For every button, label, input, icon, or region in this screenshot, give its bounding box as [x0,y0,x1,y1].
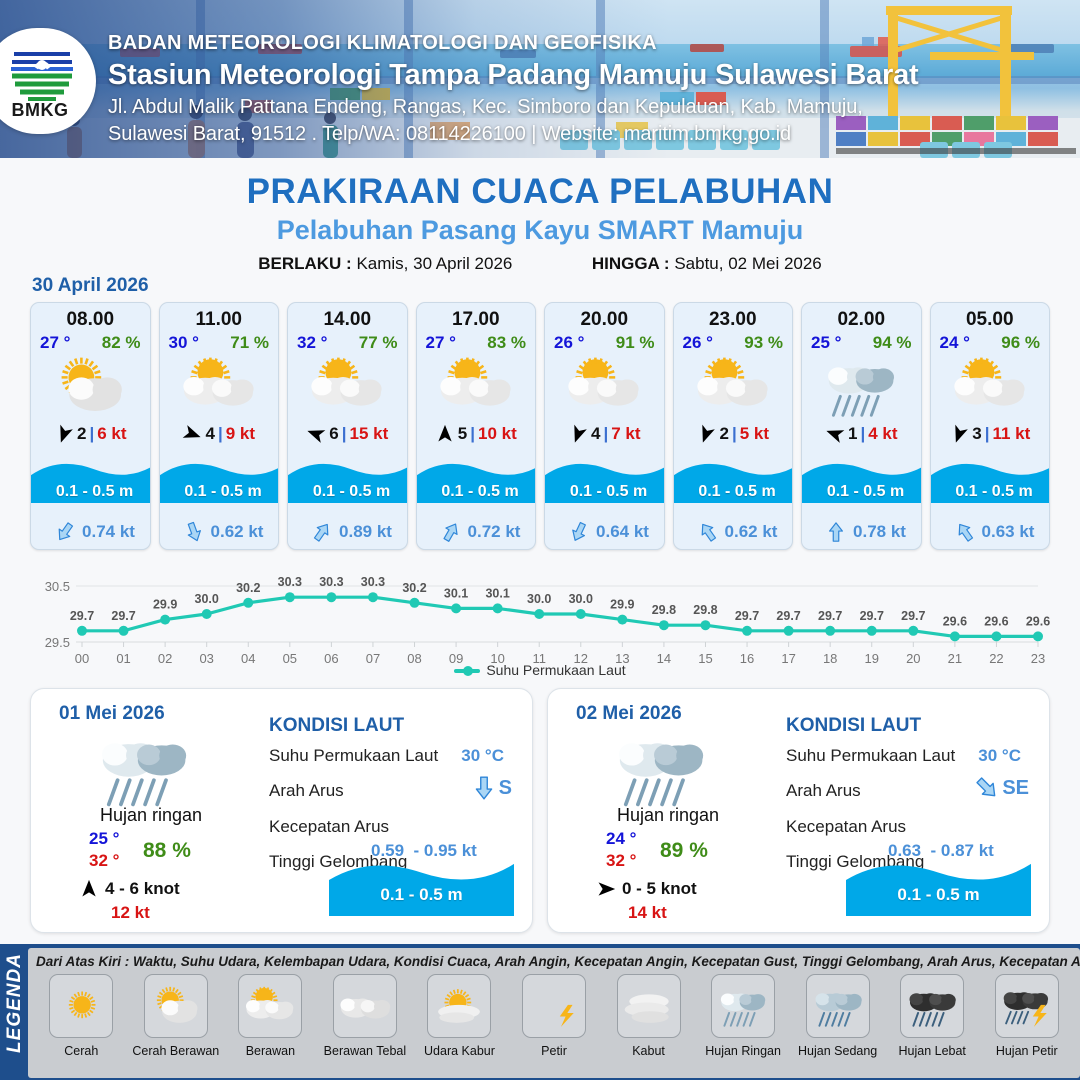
daily-weather-icon [89,727,199,807]
hourly-card: 11.00 30 ° 71 % 4 | 9 kt 0.1 - 0.5 m 0.6… [159,302,280,550]
address-line-1: Jl. Abdul Malik Pattana Endeng, Rangas, … [108,94,919,121]
wind-direction-arrow [435,424,455,444]
bmkg-logo-icon [6,38,78,104]
sst-label: Suhu Permukaan Laut [786,746,955,766]
hourly-card: 20.00 26 ° 91 % 4 | 7 kt 0.1 - 0.5 m 0.6… [544,302,665,550]
wind-direction-arrow [51,421,77,447]
current-direction-arrow [825,521,847,543]
card-current-row: 0.62 kt [160,521,280,543]
page-subtitle: Pelabuhan Pasang Kayu SMART Mamuju [0,215,1080,246]
daily-temp-min: 24 ° [606,829,636,849]
svg-text:29.6: 29.6 [1026,614,1050,628]
legend-icon-cerah-berawan [144,974,208,1038]
legend-item: Berawan [223,974,318,1074]
chart-legend-label: Suhu Permukaan Laut [486,662,625,678]
card-time: 20.00 [545,309,664,331]
card-wind-scale: 1 [848,424,857,444]
card-humidity: 83 % [487,333,526,353]
card-current-speed: 0.62 kt [211,522,264,542]
wind-direction-arrow [303,421,329,447]
card-temperature: 24 ° [940,333,970,353]
legend-item: Cerah Berawan [129,974,224,1074]
svg-text:30.3: 30.3 [319,575,343,589]
card-humidity: 71 % [230,333,269,353]
card-current-row: 0.63 kt [931,521,1051,543]
daily-wave-value: 0.1 - 0.5 m [329,885,514,905]
card-temperature: 30 ° [169,333,199,353]
daily-panel: 02 Mei 2026 Hujan ringan 24 ° 32 ° 89 % … [547,688,1050,933]
card-gust: 6 kt [97,424,126,444]
card-temperature: 26 ° [554,333,584,353]
card-temperature: 27 ° [40,333,70,353]
card-current-row: 0.64 kt [545,521,665,543]
daily-wind-row: 4 - 6 knot [79,879,180,899]
wind-direction-arrow [694,421,720,447]
svg-text:30.1: 30.1 [485,586,509,600]
daily-gust: 12 kt [111,903,150,923]
card-current-row: 0.74 kt [31,521,151,543]
page-title: PRAKIRAAN CUACA PELABUHAN [0,172,1080,212]
current-direction-value: S [471,775,512,801]
card-separator: | [342,424,347,444]
card-wind-scale: 5 [458,424,467,444]
current-direction-arrow [436,517,466,547]
card-separator: | [603,424,608,444]
card-current-row: 0.62 kt [674,521,794,543]
legend-footer: Dari Atas Kiri : Waktu, Suhu Udara, Kele… [0,944,1080,1080]
current-direction-arrow [692,517,723,548]
legend-icon-petir [522,974,586,1038]
validity-row: BERLAKU : Kamis, 30 April 2026 HINGGA : … [0,254,1080,274]
svg-text:30.0: 30.0 [527,592,551,606]
card-wind-row: 6 | 15 kt [288,419,407,449]
legend-item-label: Cerah [34,1044,129,1058]
card-current-speed: 0.62 kt [725,522,778,542]
svg-text:30.0: 30.0 [195,592,219,606]
legend-item: Udara Kabur [412,974,507,1074]
svg-text:29.8: 29.8 [652,603,676,617]
chart-legend-swatch [454,669,480,673]
legend-side-bar: LEGENDA [0,944,28,1080]
agency-name: BADAN METEOROLOGI KLIMATOLOGI DAN GEOFIS… [108,30,919,56]
card-temperature: 26 ° [683,333,713,353]
legend-item: Berawan Tebal [318,974,413,1074]
valid-from-value: Kamis, 30 April 2026 [356,254,512,273]
hourly-card: 02.00 25 ° 94 % 1 | 4 kt 0.1 - 0.5 m 0.7… [801,302,922,550]
svg-text:30.3: 30.3 [361,575,385,589]
card-humidity: 91 % [616,333,655,353]
daily-date: 01 Mei 2026 [59,703,165,725]
card-weather-icon [802,355,921,417]
card-time: 11.00 [160,309,279,331]
card-separator: | [89,424,94,444]
daily-temp-min: 25 ° [89,829,119,849]
daily-date: 02 Mei 2026 [576,703,682,725]
card-weather-icon [288,355,407,417]
valid-until-value: Sabtu, 02 Mei 2026 [674,254,821,273]
legend-icon-berawan [238,974,302,1038]
sst-value: 30 °C [978,746,1021,766]
card-wind-row: 4 | 7 kt [545,419,664,449]
wind-direction-arrow [79,879,99,899]
legend-note: Dari Atas Kiri : Waktu, Suhu Udara, Kele… [36,954,1076,969]
card-wind-scale: 4 [205,424,214,444]
current-speed-label: Kecepatan Arus [269,817,389,837]
card-current-speed: 0.63 kt [982,522,1035,542]
card-wind-scale: 4 [591,424,600,444]
card-wave-height: 0.1 - 0.5 m [288,483,408,501]
svg-text:30.2: 30.2 [236,581,260,595]
card-humidity: 94 % [873,333,912,353]
card-gust: 15 kt [349,424,388,444]
current-direction-value: SE [974,775,1029,801]
svg-text:30.2: 30.2 [402,581,426,595]
card-wave-height: 0.1 - 0.5 m [802,483,922,501]
svg-text:29.7: 29.7 [860,609,884,623]
bmkg-logo: BMKG [0,28,96,134]
card-current-speed: 0.74 kt [82,522,135,542]
current-direction-label: Arah Arus [786,781,861,801]
hourly-card: 23.00 26 ° 93 % 2 | 5 kt 0.1 - 0.5 m 0.6… [673,302,794,550]
svg-text:29.7: 29.7 [111,609,135,623]
sst-label: Suhu Permukaan Laut [269,746,438,766]
hourly-card: 08.00 27 ° 82 % 2 | 6 kt 0.1 - 0.5 m 0.7… [30,302,151,550]
svg-text:29.7: 29.7 [776,609,800,623]
card-current-speed: 0.72 kt [468,522,521,542]
legend-item-label: Hujan Lebat [885,1044,980,1058]
card-wave-height: 0.1 - 0.5 m [545,483,665,501]
card-gust: 10 kt [478,424,517,444]
card-time: 05.00 [931,309,1050,331]
card-separator: | [732,424,737,444]
card-current-speed: 0.89 kt [339,522,392,542]
legend-icon-berawan-tebal [333,974,397,1038]
card-separator: | [218,424,223,444]
card-current-row: 0.72 kt [417,521,537,543]
card-gust: 7 kt [611,424,640,444]
card-gust: 9 kt [226,424,255,444]
legend-side-label: LEGENDA [4,948,26,1058]
card-wave-height: 0.1 - 0.5 m [31,483,151,501]
legend-icon-hujan-petir [995,974,1059,1038]
card-gust: 4 kt [868,424,897,444]
card-wave-height: 0.1 - 0.5 m [417,483,537,501]
wind-direction-arrow [596,879,616,899]
svg-text:29.7: 29.7 [70,609,94,623]
card-wave-height: 0.1 - 0.5 m [931,483,1051,501]
current-direction-arrow [949,517,980,548]
daily-weather-icon [606,727,716,807]
legend-item-label: Cerah Berawan [129,1044,224,1058]
legend-item-label: Berawan Tebal [318,1044,413,1058]
card-wind-row: 1 | 4 kt [802,419,921,449]
legend-panel: Dari Atas Kiri : Waktu, Suhu Udara, Kele… [28,948,1080,1078]
legend-item: Cerah [34,974,129,1074]
card-weather-icon [545,355,664,417]
legend-item-label: Petir [507,1044,602,1058]
legend-item: Hujan Lebat [885,974,980,1074]
card-separator: | [470,424,475,444]
card-wind-scale: 6 [329,424,338,444]
card-wind-scale: 3 [972,424,981,444]
hourly-card: 05.00 24 ° 96 % 3 | 11 kt 0.1 - 0.5 m 0.… [930,302,1051,550]
header-text-block: BADAN METEOROLOGI KLIMATOLOGI DAN GEOFIS… [108,30,919,148]
card-wave-height: 0.1 - 0.5 m [674,483,794,501]
svg-text:29.7: 29.7 [901,609,925,623]
sea-condition-title: KONDISI LAUT [269,715,404,737]
card-current-speed: 0.64 kt [596,522,649,542]
legend-icon-row: Cerah Cerah Berawan Berawan Berawan Teba… [34,974,1074,1074]
daily-humidity: 88 % [143,839,191,863]
daily-wind-range: 4 - 6 knot [105,879,180,899]
svg-text:29.9: 29.9 [610,598,634,612]
svg-text:29.6: 29.6 [984,614,1008,628]
card-weather-icon [31,355,150,417]
daily-panel: 01 Mei 2026 Hujan ringan 25 ° 32 ° 88 % … [30,688,533,933]
page-header: BMKG BADAN METEOROLOGI KLIMATOLOGI DAN G… [0,0,1080,158]
card-wind-row: 3 | 11 kt [931,419,1050,449]
legend-icon-hujan-sedang [806,974,870,1038]
wind-direction-arrow [180,421,206,447]
forecast-date-label: 30 April 2026 [32,275,149,297]
svg-text:30.0: 30.0 [569,592,593,606]
hourly-card: 14.00 32 ° 77 % 6 | 15 kt 0.1 - 0.5 m 0.… [287,302,408,550]
daily-wind-range: 0 - 5 knot [622,879,697,899]
svg-text:30.1: 30.1 [444,586,468,600]
legend-icon-hujan-ringan [711,974,775,1038]
card-time: 23.00 [674,309,793,331]
legend-icon-kabut [617,974,681,1038]
wind-direction-arrow [565,421,591,447]
current-direction-arrow [50,517,81,548]
card-current-speed: 0.78 kt [853,522,906,542]
card-wind-row: 4 | 9 kt [160,419,279,449]
card-time: 08.00 [31,309,150,331]
legend-icon-udara-kabur [427,974,491,1038]
current-direction-arrow [179,518,207,546]
wind-direction-arrow [946,421,972,447]
card-time: 17.00 [417,309,536,331]
card-gust: 11 kt [992,424,1030,444]
legend-item: Hujan Sedang [790,974,885,1074]
legend-item-label: Berawan [223,1044,318,1058]
station-name: Stasiun Meteorologi Tampa Padang Mamuju … [108,56,919,94]
card-separator: | [860,424,865,444]
svg-text:29.5: 29.5 [45,635,70,650]
sst-chart: 30.529.529.70029.70129.90230.00330.20430… [30,556,1050,676]
daily-forecast-panels: 01 Mei 2026 Hujan ringan 25 ° 32 ° 88 % … [30,688,1050,933]
card-wind-row: 2 | 5 kt [674,419,793,449]
legend-item: Hujan Petir [979,974,1074,1074]
daily-temp-max: 32 ° [606,851,636,871]
daily-gust: 14 kt [628,903,667,923]
hourly-forecast-row: 08.00 27 ° 82 % 2 | 6 kt 0.1 - 0.5 m 0.7… [30,302,1050,550]
svg-text:29.7: 29.7 [735,609,759,623]
legend-icon-hujan-lebat [900,974,964,1038]
card-temperature: 25 ° [811,333,841,353]
legend-item-label: Hujan Sedang [790,1044,885,1058]
daily-condition: Hujan ringan [558,805,778,826]
legend-item-label: Kabut [601,1044,696,1058]
svg-text:30.5: 30.5 [45,579,70,594]
card-time: 14.00 [288,309,407,331]
card-weather-icon [417,355,536,417]
svg-text:30.3: 30.3 [278,575,302,589]
sst-chart-svg: 30.529.529.70029.70129.90230.00330.20430… [30,556,1050,676]
daily-humidity: 89 % [660,839,708,863]
daily-wave-value: 0.1 - 0.5 m [846,885,1031,905]
card-wind-scale: 2 [77,424,86,444]
legend-item: Petir [507,974,602,1074]
current-direction-arrow [471,775,497,801]
card-current-row: 0.78 kt [802,521,922,543]
card-wind-row: 2 | 6 kt [31,419,150,449]
current-direction-label: Arah Arus [269,781,344,801]
legend-icon-cerah [49,974,113,1038]
sst-value: 30 °C [461,746,504,766]
daily-temp-max: 32 ° [89,851,119,871]
legend-item: Hujan Ringan [696,974,791,1074]
card-temperature: 27 ° [426,333,456,353]
svg-text:29.9: 29.9 [153,598,177,612]
daily-condition: Hujan ringan [41,805,261,826]
legend-item-label: Hujan Petir [979,1044,1074,1058]
card-humidity: 93 % [744,333,783,353]
valid-until-label: HINGGA : [592,254,670,273]
card-current-row: 0.89 kt [288,521,408,543]
bmkg-logo-text: BMKG [0,100,96,121]
svg-text:29.6: 29.6 [943,614,967,628]
hourly-card: 17.00 27 ° 83 % 5 | 10 kt 0.1 - 0.5 m 0.… [416,302,537,550]
daily-wind-row: 0 - 5 knot [596,879,697,899]
chart-legend: Suhu Permukaan Laut [0,662,1080,678]
current-direction-arrow [969,770,1006,807]
card-time: 02.00 [802,309,921,331]
current-speed-label: Kecepatan Arus [786,817,906,837]
card-humidity: 77 % [359,333,398,353]
valid-from-label: BERLAKU : [258,254,352,273]
svg-text:29.8: 29.8 [693,603,717,617]
legend-item: Kabut [601,974,696,1074]
current-direction-arrow [307,517,338,548]
card-wind-row: 5 | 10 kt [417,419,536,449]
card-wave-height: 0.1 - 0.5 m [160,483,280,501]
card-temperature: 32 ° [297,333,327,353]
card-separator: | [985,424,990,444]
svg-text:29.7: 29.7 [818,609,842,623]
card-gust: 5 kt [740,424,769,444]
legend-item-label: Hujan Ringan [696,1044,791,1058]
sea-condition-title: KONDISI LAUT [786,715,921,737]
card-humidity: 82 % [102,333,141,353]
current-direction-arrow [564,517,593,546]
legend-item-label: Udara Kabur [412,1044,507,1058]
address-line-2: Sulawesi Barat, 91512 . Telp/WA: 0811422… [108,121,919,148]
card-weather-icon [674,355,793,417]
card-wind-scale: 2 [719,424,728,444]
card-weather-icon [931,355,1050,417]
card-humidity: 96 % [1001,333,1040,353]
wind-direction-arrow [822,421,848,447]
card-weather-icon [160,355,279,417]
